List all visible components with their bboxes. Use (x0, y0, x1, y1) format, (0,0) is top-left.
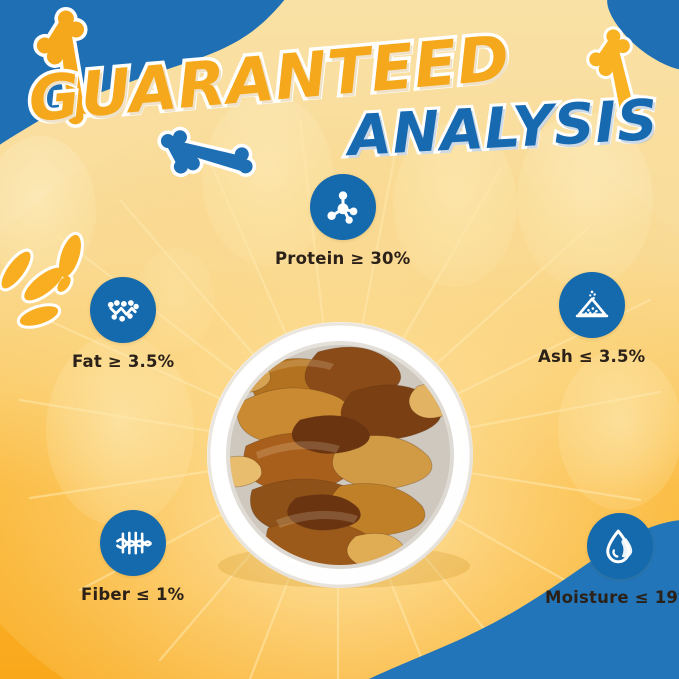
ash-pile-icon (571, 284, 613, 326)
fat-badge (90, 277, 156, 343)
poster-canvas: GUARANTEED ANALYSIS (0, 0, 679, 679)
nutrient-item-fiber: Fiber ≤ 1% (81, 510, 184, 604)
water-drop-icon (599, 525, 641, 567)
nutrient-item-ash: Ash ≤ 3.5% (538, 272, 645, 366)
nutrient-item-fat: Fat ≥ 3.5% (72, 277, 174, 371)
moisture-badge (587, 513, 653, 579)
fiber-weave-icon (111, 521, 155, 565)
fiber-badge (100, 510, 166, 576)
molecule-icon (322, 186, 364, 228)
nutrient-item-moisture: Moisture ≤ 19% (545, 513, 679, 607)
protein-badge (310, 174, 376, 240)
lipid-chain-icon (102, 289, 144, 331)
nutrient-item-protein: Protein ≥ 30% (275, 174, 410, 268)
moisture-label: Moisture ≤ 19% (545, 588, 679, 607)
fat-label: Fat ≥ 3.5% (72, 352, 174, 371)
ash-badge (559, 272, 625, 338)
ash-label: Ash ≤ 3.5% (538, 347, 645, 366)
protein-label: Protein ≥ 30% (275, 249, 410, 268)
fiber-label: Fiber ≤ 1% (81, 585, 184, 604)
